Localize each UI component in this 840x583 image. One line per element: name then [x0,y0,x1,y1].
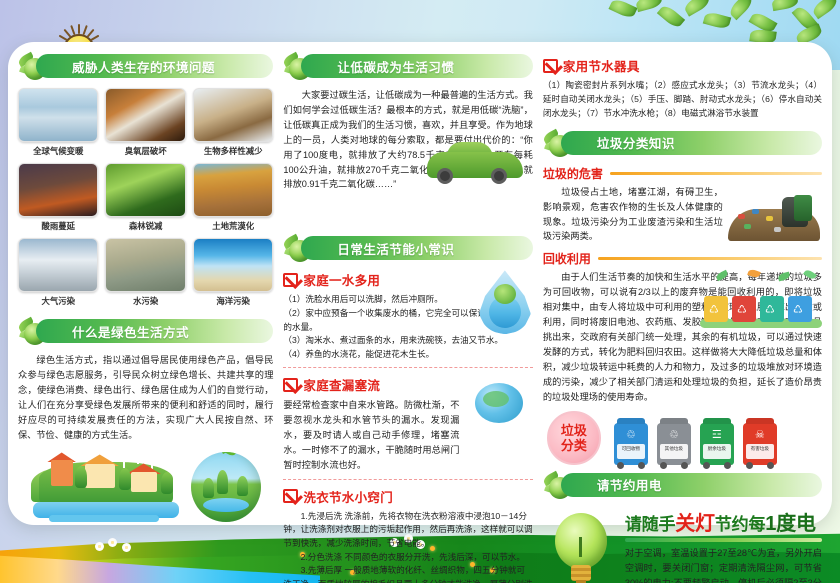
section-header-garbage-knowledge: 垃圾分类知识 [543,131,822,157]
grass-car-illustration [421,138,529,186]
eco-earth-illustration [191,452,261,522]
section-title: 什么是绿色生活方式 [72,322,189,341]
trash-pile-illustration [728,185,820,241]
bin-hazardous: ☠ 有害垃圾 [743,423,779,465]
slogan-underline [625,538,822,542]
photo-caption: 生物多样性减少 [193,145,273,157]
subsection-title: 回收利用 [543,250,591,267]
red-check-icon [283,273,298,287]
tip-heading-laundry-saving: 洗衣节水小窍门 [283,487,532,506]
grid-item: 土地荒漠化 [193,163,273,232]
section-header-environment-problems: 威胁人类生存的环境问题 [18,54,273,80]
section-header-daily-energy-tips: 日常生活节能小常识 [283,236,532,262]
grid-item: 臭氧层破坏 [105,88,185,157]
column-garbage-electricity: 家用节水器具 （1）陶瓷密封片系列水嘴；（2）感应式水龙头；（3）节流水龙头；（… [543,54,822,515]
electricity-slogan-block: 请随手关灯节约每1度电 对于空调，室温设置于27至28℃为宜，另外开启空调时，要… [543,507,822,583]
photo-caption: 森林锐减 [105,220,185,232]
bin-food-waste: ☲ 厨余垃圾 [700,423,736,465]
water-devices-text: （1）陶瓷密封片系列水嘴；（2）感应式水龙头；（3）节流水龙头；（4）延时自动关… [543,79,822,121]
grid-item: 森林锐减 [105,163,185,232]
slogan-highlight-number: 1度电 [765,513,816,535]
photo-ocean-pollution [193,238,273,292]
tip-title: 家庭一水多用 [303,270,380,289]
bin-label: 可回收物 [617,444,645,459]
tip-title: 家庭查漏塞流 [303,375,380,394]
tip-heading-water-saving-devices: 家用节水器具 [543,56,822,75]
list-item: 2.分色洗涤 不同颜色的衣服分开洗，先浅后深，可以节水。 [283,551,532,565]
column-environment: 威胁人类生存的环境问题 全球气候变暖 臭氧层破坏 生物多样性减少 酸雨蔓延 [18,54,273,515]
slogan-part-1: 请随手 [625,515,675,534]
photo-air-pollution [18,238,98,292]
heading-rule [598,257,822,260]
poster-card: 威胁人类生存的环境问题 全球气候变暖 臭氧层破坏 生物多样性减少 酸雨蔓延 [8,42,832,525]
list-item: 1.先浸后洗 洗涤前，先将衣物在洗衣粉溶液中浸泡10－14分钟，让洗涤剂对衣服上… [283,510,532,551]
grid-item: 酸雨蔓延 [18,163,98,232]
eco-illustrations [18,450,273,522]
section-header-green-lifestyle: 什么是绿色生活方式 [18,319,273,345]
divider [283,367,532,368]
photo-ozone-damage [105,88,185,142]
green-lifestyle-text: 绿色生活方式，指以通过倡导居民使用绿色产品，倡导民众参与绿色志愿服务，引导民众树… [18,353,273,442]
section-title: 垃圾分类知识 [597,133,675,152]
list-item: （4）养鱼的水浇花，能促进花木生长。 [283,348,532,362]
tip-title: 洗衣节水小窍门 [303,487,393,506]
slogan-highlight-red: 关灯 [675,513,715,535]
bin-residual: ♲ 其他垃圾 [657,423,693,465]
heading-rule [610,172,822,175]
tip-title: 家用节水器具 [563,56,640,75]
recycle-bins-icons: ♺ ♺ ♺ ♺ [700,270,822,328]
section-header-save-electricity: 请节约用电 [543,473,822,499]
section-title: 请节约用电 [597,475,662,494]
tree-lightbulb-illustration [543,507,619,583]
section-title: 日常生活节能小常识 [337,239,454,258]
photo-deforestation [105,163,185,217]
photo-desertification [193,163,273,217]
earth-faucet-illustration [471,379,533,431]
photo-caption: 土地荒漠化 [193,220,273,232]
slogan-part-2: 节约每 [715,515,765,534]
environment-image-grid: 全球气候变暖 臭氧层破坏 生物多样性减少 酸雨蔓延 森林锐减 土地荒漠化 [18,88,273,307]
garbage-harm-text: 垃圾侵占土地，堵塞江湖，有碍卫生，影响景观，危害农作物的生长及人体健康的现象。垃… [543,185,723,245]
tip-list-laundry: 1.先浸后洗 洗涤前，先将衣物在洗衣粉溶液中浸泡10－14分钟，让洗涤剂对衣服上… [283,510,532,583]
bin-label: 有害垃圾 [746,444,774,459]
badge-line-2: 分类 [561,438,587,453]
slogan-text-block: 请随手关灯节约每1度电 对于空调，室温设置于27至28℃为宜，另外开启空调时，要… [625,507,822,583]
bin-label: 厨余垃圾 [703,444,731,459]
red-check-icon [543,59,558,73]
garbage-sorting-badge: 垃圾 分类 [547,411,601,465]
photo-biodiversity-loss [193,88,273,142]
list-item: 3.先薄后厚 一般质地薄软的化纤、丝绸织物，四五分钟就可洗干净，而质地较厚的棉毛… [283,564,532,583]
subsection-heading-recycling: 回收利用 [543,250,822,267]
garbage-bins-row: 垃圾 分类 ♲ 可回收物 ♲ 其他垃圾 ☲ 厨 [547,411,822,465]
photo-caption: 臭氧层破坏 [105,145,185,157]
red-check-icon [283,489,298,503]
section-title: 威胁人类生存的环境问题 [72,57,215,76]
column-lowcarbon: 让低碳成为生活习惯 大家要过碳生活，让低碳成为一种最普遍的生活方式。我们如何学会… [283,54,532,515]
green-village-illustration [31,450,181,522]
red-check-icon [283,378,298,392]
photo-caption: 水污染 [105,295,185,307]
tip-body-leak-check: 要经常检查家中自来水管路。防微杜渐，不要忽视水龙头和水管节头的漏水。发现漏水，要… [283,398,459,473]
bin-label: 其他垃圾 [660,444,688,459]
section-header-lowcarbon-habit: 让低碳成为生活习惯 [283,54,532,80]
grid-item: 生物多样性减少 [193,88,273,157]
photo-acid-rain [18,163,98,217]
slogan-headline: 请随手关灯节约每1度电 [625,507,822,536]
badge-line-1: 垃圾 [561,423,587,438]
grid-item: 海洋污染 [193,238,273,307]
photo-water-pollution [105,238,185,292]
photo-caption: 全球气候变暖 [18,145,98,157]
divider [283,479,532,480]
photo-caption: 酸雨蔓延 [18,220,98,232]
photo-caption: 大气污染 [18,295,98,307]
subsection-title: 垃圾的危害 [543,165,603,182]
grid-item: 水污染 [105,238,185,307]
water-drop-illustration [479,270,531,336]
section-title: 让低碳成为生活习惯 [337,57,454,76]
subsection-heading-garbage-harm: 垃圾的危害 [543,165,822,182]
grid-item: 大气污染 [18,238,98,307]
electricity-saving-text: 对于空调，室温设置于27至28℃为宜，另外开启空调时，要关闭门窗；定期清洗隔尘网… [625,546,822,583]
photo-global-warming [18,88,98,142]
bin-recyclable: ♲ 可回收物 [614,423,650,465]
photo-caption: 海洋污染 [193,295,273,307]
grid-item: 全球气候变暖 [18,88,98,157]
